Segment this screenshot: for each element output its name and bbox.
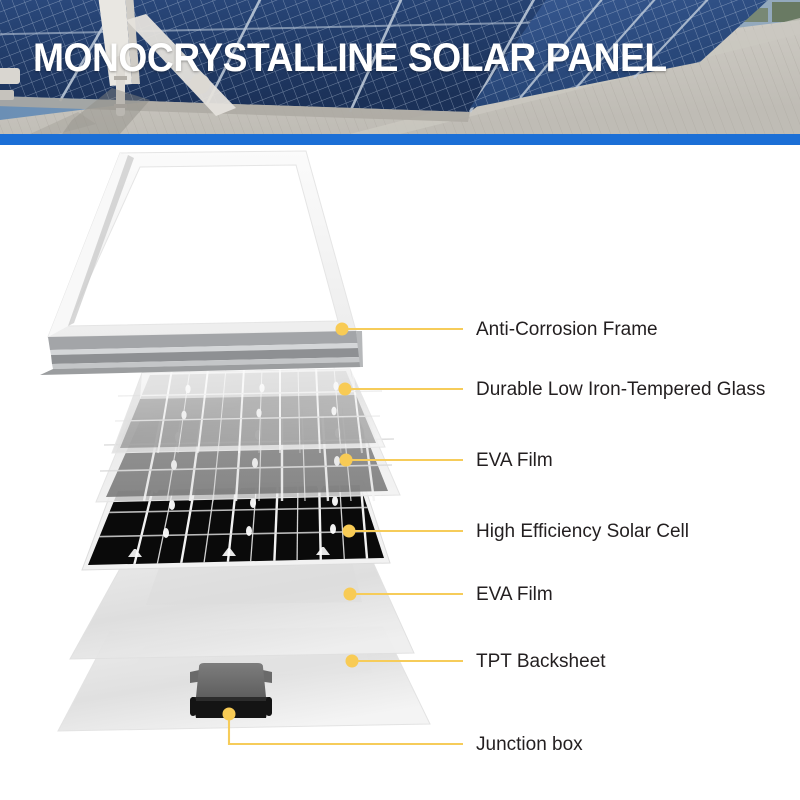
dot-junction-box	[223, 708, 236, 721]
exploded-layer-diagram: Anti-Corrosion Frame Durable Low Iron-Te…	[0, 145, 800, 800]
header-banner: MONOCRYSTALLINE SOLAR PANEL	[0, 0, 800, 134]
callout-label-tpt-backsheet: TPT Backsheet	[476, 652, 606, 671]
accent-divider-bar	[0, 134, 800, 145]
callout-label-solar-cell: High Efficiency Solar Cell	[476, 522, 689, 541]
callout-label-tempered-glass: Durable Low Iron-Tempered Glass	[476, 380, 765, 399]
dot-backsheet	[346, 655, 359, 668]
product-infographic-page: MONOCRYSTALLINE SOLAR PANEL	[0, 0, 800, 800]
dot-solar-cell	[343, 525, 356, 538]
callout-label-anti-corrosion-frame: Anti-Corrosion Frame	[476, 320, 658, 339]
callout-label-eva-film-bottom: EVA Film	[476, 585, 553, 604]
dot-frame	[336, 323, 349, 336]
layer-eva-film-bottom	[70, 560, 414, 659]
dot-eva-top	[340, 454, 353, 467]
layer-anti-corrosion-frame	[40, 151, 363, 375]
callout-label-junction-box: Junction box	[476, 735, 583, 754]
page-title: MONOCRYSTALLINE SOLAR PANEL	[33, 36, 667, 80]
dot-eva-bottom	[344, 588, 357, 601]
dot-glass	[339, 383, 352, 396]
callout-label-eva-film-top: EVA Film	[476, 451, 553, 470]
layer-tempered-glass	[112, 367, 385, 453]
